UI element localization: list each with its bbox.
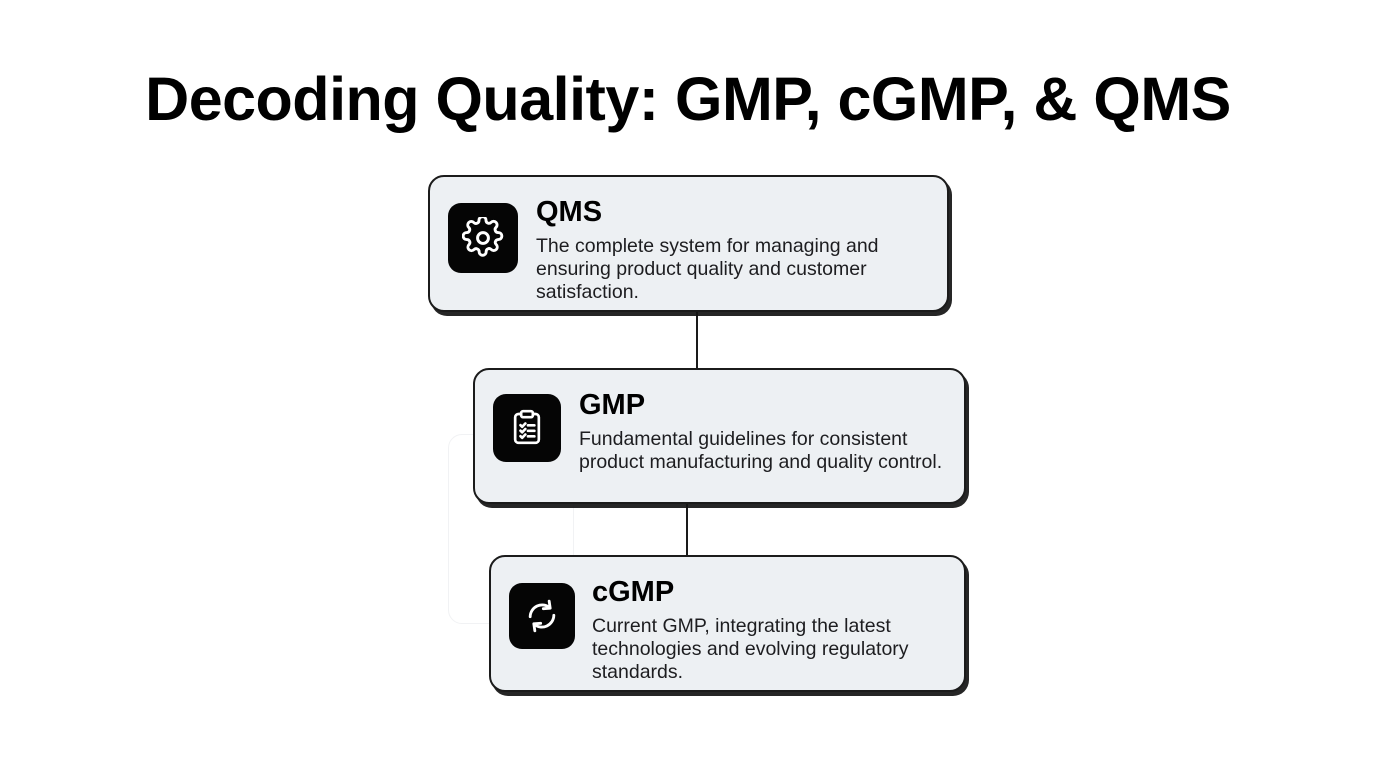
card-gmp[interactable]: GMP Fundamental guidelines for consisten… <box>473 368 966 504</box>
card-qms-body: QMS The complete system for managing and… <box>536 195 927 304</box>
diagram-canvas: Decoding Quality: GMP, cGMP, & QMS QMS T… <box>0 0 1376 768</box>
card-gmp-body: GMP Fundamental guidelines for consisten… <box>579 388 944 474</box>
page-title: Decoding Quality: GMP, cGMP, & QMS <box>0 64 1376 134</box>
card-qms-description: The complete system for managing and ens… <box>536 235 927 304</box>
card-qms[interactable]: QMS The complete system for managing and… <box>428 175 949 312</box>
connector-qms-to-gmp <box>696 310 698 370</box>
card-cgmp-body: cGMP Current GMP, integrating the latest… <box>592 575 944 684</box>
card-gmp-title: GMP <box>579 390 944 422</box>
card-cgmp-description: Current GMP, integrating the latest tech… <box>592 615 944 684</box>
card-gmp-description: Fundamental guidelines for consistent pr… <box>579 428 944 474</box>
gear-icon <box>448 203 518 273</box>
connector-gmp-to-cgmp <box>686 501 688 557</box>
card-qms-title: QMS <box>536 197 927 229</box>
refresh-cycle-icon <box>509 583 575 649</box>
clipboard-checklist-icon <box>493 394 561 462</box>
card-cgmp[interactable]: cGMP Current GMP, integrating the latest… <box>489 555 966 692</box>
card-cgmp-title: cGMP <box>592 577 944 609</box>
